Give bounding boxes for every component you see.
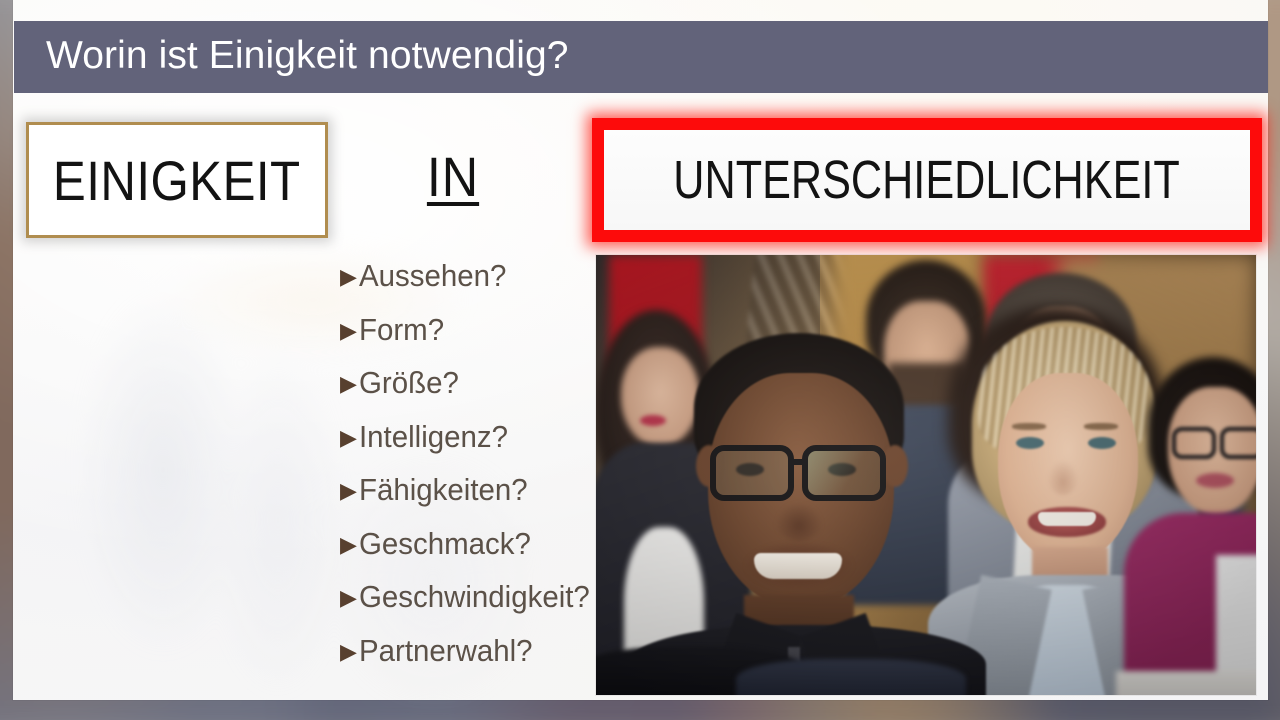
list-item: ▶ Form?	[340, 312, 600, 366]
list-item: ▶ Geschmack?	[340, 526, 600, 580]
photo-person-right-woman-glasses-left	[1172, 427, 1216, 459]
triangle-bullet-icon: ▶	[340, 266, 357, 288]
einigkeit-label: EINIGKEIT	[53, 148, 301, 213]
photo-person-front-man-glasses-bridge	[792, 459, 806, 465]
triangle-bullet-icon: ▶	[340, 373, 357, 395]
unterschiedlichkeit-box: UNTERSCHIEDLICHKEIT	[592, 118, 1262, 242]
list-item-label: Größe?	[359, 365, 459, 401]
photo-person-front-man-glasses-right	[802, 445, 886, 501]
unterschiedlichkeit-label: UNTERSCHIEDLICHKEIT	[674, 149, 1180, 211]
question-bullet-list: ▶ Aussehen? ▶ Form? ▶ Größe? ▶ Intellige…	[340, 258, 600, 686]
triangle-bullet-icon: ▶	[340, 534, 357, 556]
unterschiedlichkeit-inner: UNTERSCHIEDLICHKEIT	[604, 130, 1250, 230]
list-item-label: Intelligenz?	[359, 419, 508, 455]
list-item: ▶ Größe?	[340, 365, 600, 419]
photo-person-blonde-woman-brow-left	[1012, 423, 1046, 430]
list-item: ▶ Geschwindigkeit?	[340, 579, 600, 633]
photo-foreground-right-light	[1116, 671, 1256, 695]
photo-person-back-left-face	[621, 347, 699, 447]
list-item: ▶ Fähigkeiten?	[340, 472, 600, 526]
triangle-bullet-icon: ▶	[340, 480, 357, 502]
photo-person-back-left-lips	[640, 415, 666, 426]
list-item-label: Fähigkeiten?	[359, 472, 528, 508]
list-item-label: Aussehen?	[359, 258, 506, 294]
list-item-label: Geschwindigkeit?	[359, 579, 590, 615]
slide-title: Worin ist Einigkeit notwendig?	[46, 34, 569, 78]
list-item-label: Form?	[359, 312, 444, 348]
photo-person-blonde-woman-teeth	[1038, 512, 1096, 526]
photo-canvas	[596, 255, 1256, 695]
connector-word-in: IN	[427, 144, 479, 209]
triangle-bullet-icon: ▶	[340, 427, 357, 449]
photo-person-blonde-woman-eye-left	[1016, 437, 1044, 449]
triangle-bullet-icon: ▶	[340, 641, 357, 663]
list-item-label: Partnerwahl?	[359, 633, 533, 669]
business-people-photo	[596, 255, 1256, 695]
list-item: ▶ Partnerwahl?	[340, 633, 600, 687]
photo-person-right-woman-glasses-right	[1220, 427, 1256, 459]
einigkeit-box: EINIGKEIT	[26, 122, 328, 238]
photo-foreground-mid-dark	[736, 659, 966, 695]
triangle-bullet-icon: ▶	[340, 587, 357, 609]
photo-person-right-woman-lips	[1196, 473, 1234, 488]
photo-person-blonde-woman-brow-right	[1084, 423, 1118, 430]
list-item: ▶ Aussehen?	[340, 258, 600, 312]
list-item: ▶ Intelligenz?	[340, 419, 600, 473]
triangle-bullet-icon: ▶	[340, 320, 357, 342]
photo-person-front-man-glasses-left	[710, 445, 794, 501]
photo-person-blonde-woman-nose	[1048, 461, 1078, 495]
slide-title-bar: Worin ist Einigkeit notwendig?	[14, 21, 1268, 93]
photo-person-front-man-nose	[776, 503, 822, 541]
presentation-slide: Worin ist Einigkeit notwendig? EINIGKEIT…	[0, 0, 1280, 720]
photo-person-front-man-teeth	[754, 553, 842, 579]
list-item-label: Geschmack?	[359, 526, 531, 562]
photo-person-blonde-woman-eye-right	[1088, 437, 1116, 449]
